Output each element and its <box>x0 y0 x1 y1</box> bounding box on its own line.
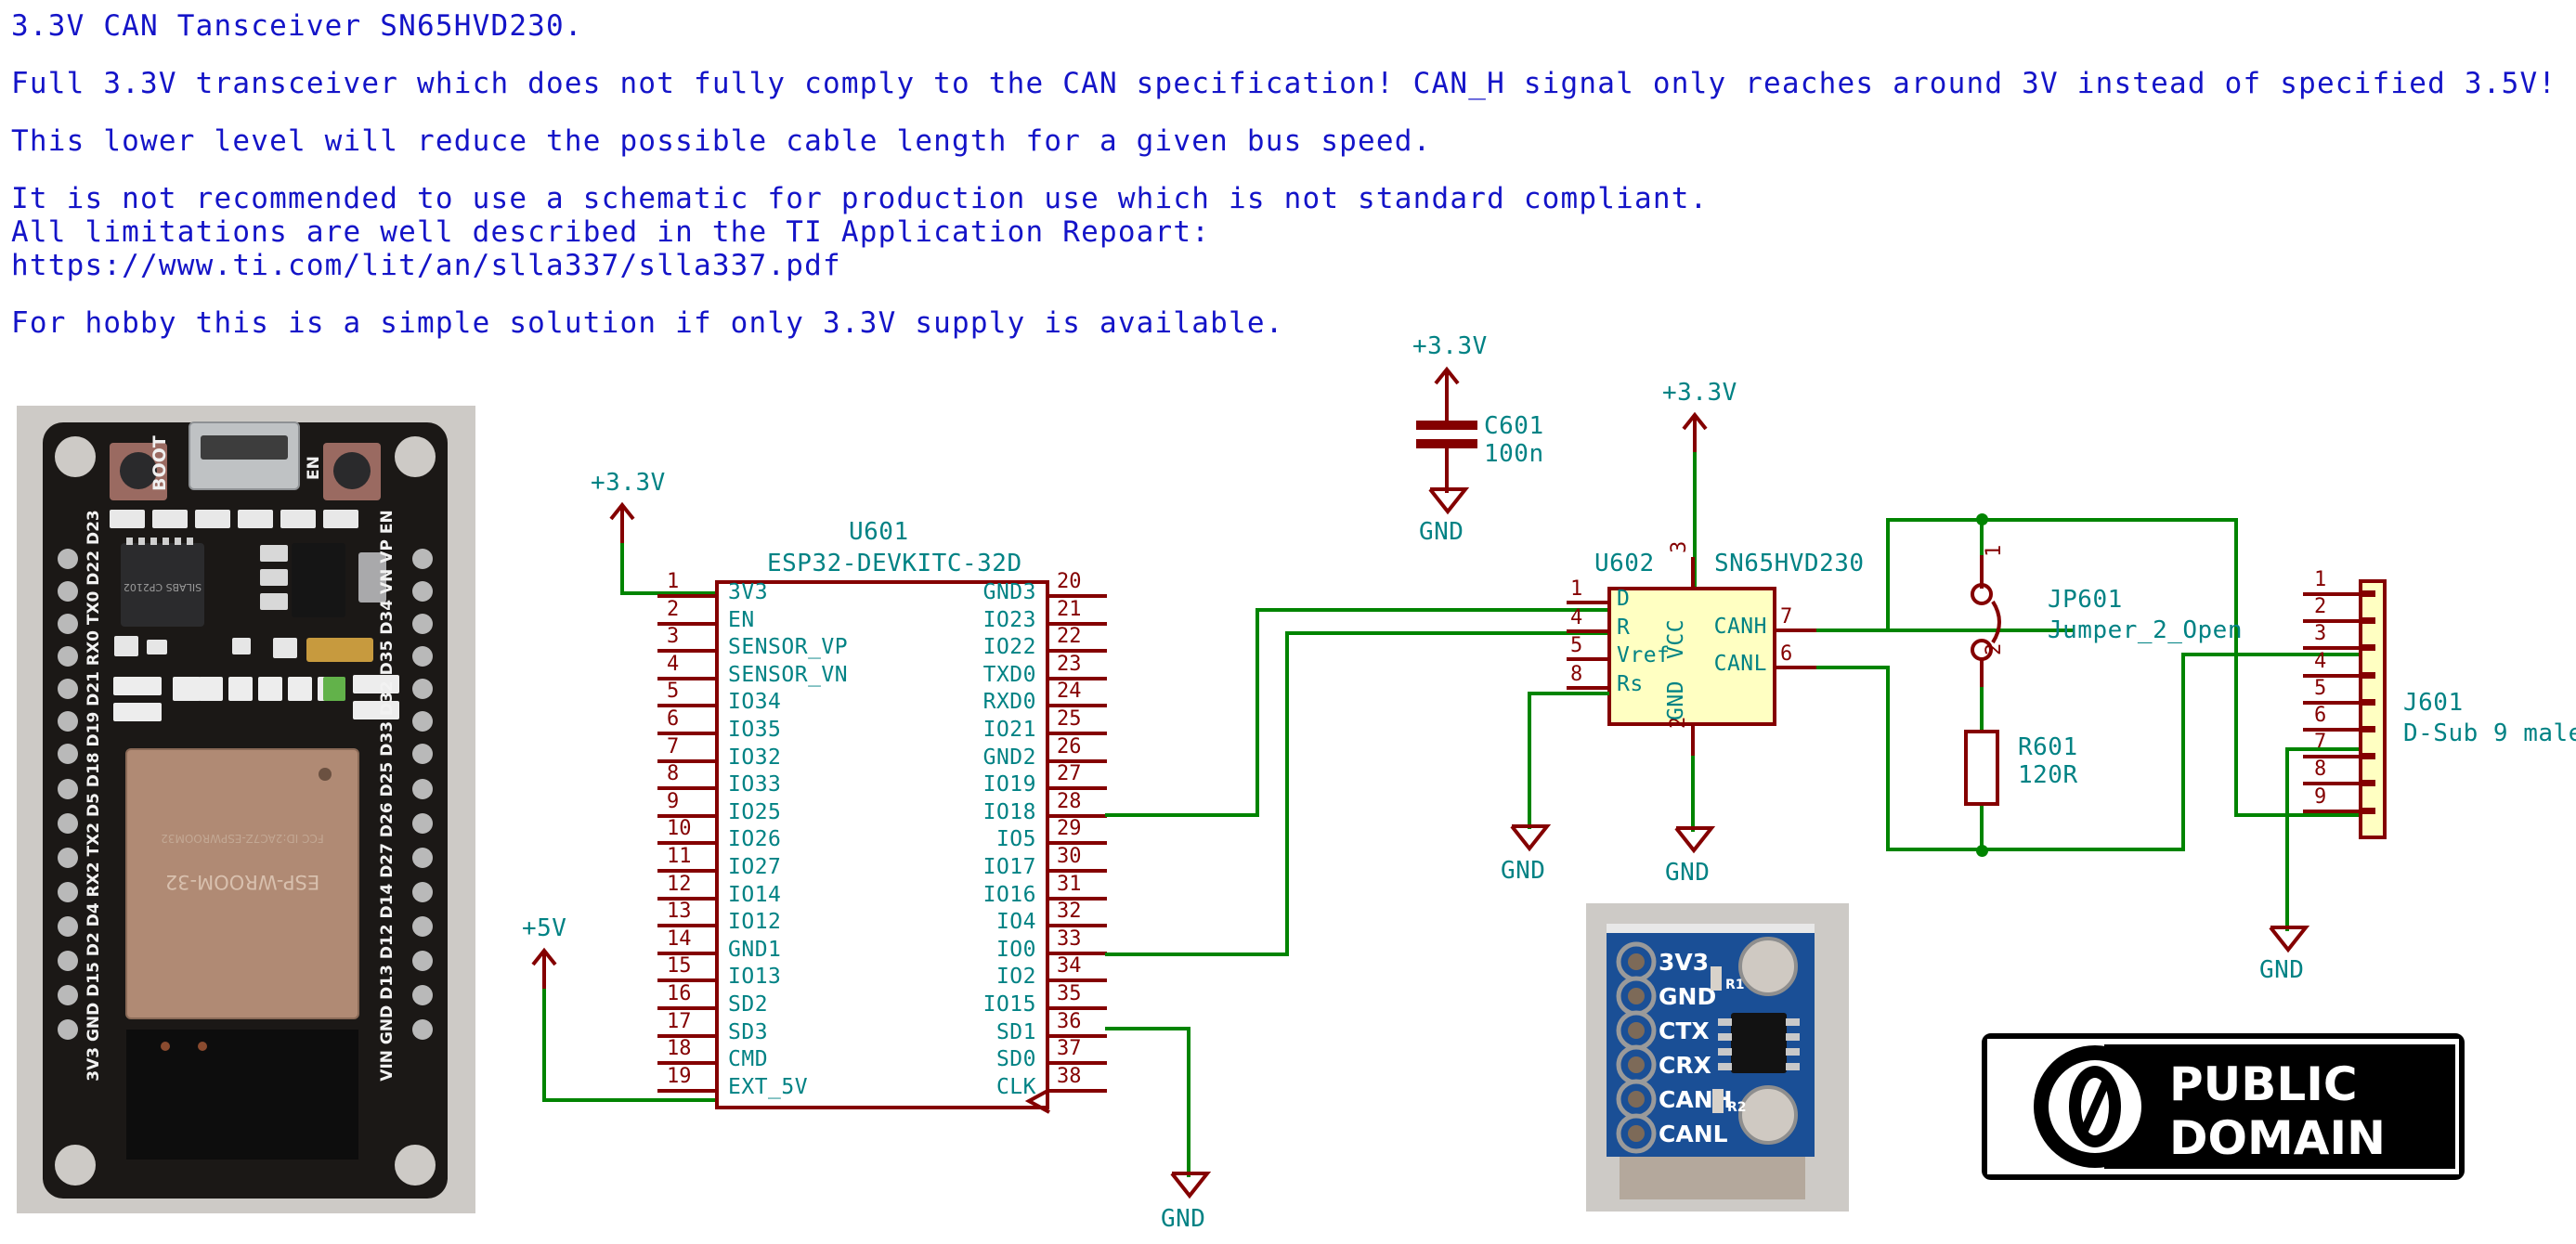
j601-pin-number: 9 <box>2314 785 2326 809</box>
u601-pin-name: IO17 <box>983 855 1036 879</box>
u601-pin-name: IO5 <box>996 827 1036 851</box>
u601-pin-number: 17 <box>667 1010 692 1033</box>
j601-pin-lead <box>2303 782 2359 785</box>
u601-pin-number: 12 <box>667 873 692 896</box>
j601-pin-lead <box>2303 646 2359 650</box>
u601-pin-name: IO19 <box>983 772 1036 797</box>
wire-dsub-gnd-v <box>2285 747 2289 931</box>
j601-value: D-Sub 9 male <box>2403 719 2576 747</box>
wire-canl-bottom-bus <box>1886 848 2185 851</box>
u601-pin-name: EXT_5V <box>728 1075 808 1099</box>
u601-pin-name: IO21 <box>983 718 1036 742</box>
note-line-cablelength: This lower level will reduce the possibl… <box>11 124 2333 158</box>
gnd-symbol-u602 <box>1674 826 1713 858</box>
u601-pin-number: 31 <box>1057 873 1082 896</box>
u601-pin-name: CMD <box>728 1047 768 1071</box>
u601-pin-number: 1 <box>667 570 679 593</box>
power-arrow-3v3-cap <box>1428 366 1465 408</box>
wire-io4-h1 <box>1105 952 1289 956</box>
wire-rs-to-gnd-h <box>1528 692 1609 695</box>
j601-pin-lead <box>2303 701 2359 705</box>
u601-pin-number: 24 <box>1057 680 1082 703</box>
u601-pin-number: 2 <box>667 598 679 621</box>
u601-pin-number: 33 <box>1057 927 1082 951</box>
wire-canh-top-bus <box>1886 518 2238 522</box>
wire-gnd2-h <box>1105 1027 1190 1030</box>
wire-gnd2-v <box>1187 1027 1190 1177</box>
gnd-symbol-esp32 <box>1170 1172 1209 1203</box>
u601-pin-name: IO15 <box>983 992 1036 1017</box>
wire-canl-to-dsub-v <box>2181 653 2185 851</box>
power-arrow-5v-esp32 <box>526 947 563 990</box>
j601-pin-stub <box>2361 672 2375 679</box>
u601-pin-number: 32 <box>1057 900 1082 923</box>
svg-text:SILABS CP2102: SILABS CP2102 <box>124 581 202 593</box>
power-label-3v3-cap: +3.3V <box>1412 332 1488 360</box>
u601-pin-lead <box>657 1089 715 1093</box>
u602-reference: U602 <box>1594 550 1655 577</box>
u601-pin-name: GND2 <box>983 745 1036 770</box>
u601-pin-name: SD1 <box>996 1020 1036 1044</box>
u601-pin-number: 15 <box>667 954 692 978</box>
svg-text:CANL: CANL <box>1659 1121 1728 1147</box>
gnd-label-c601: GND <box>1419 518 1464 546</box>
jp601-pin2-lead <box>1980 659 1984 687</box>
u602-pin-lead <box>1776 666 1817 669</box>
jp601-pin-num-2: 2 <box>1983 643 2006 655</box>
j601-pin-lead <box>2303 755 2359 758</box>
u602-pin-lead <box>1567 601 1607 604</box>
note-spacer <box>11 100 2333 124</box>
notes-block: 3.3V CAN Tansceiver SN65HVD230. Full 3.3… <box>11 9 2333 340</box>
j601-pin-stub <box>2361 726 2375 732</box>
u602-pin-lead <box>1567 686 1607 690</box>
gnd-label-u602: GND <box>1665 859 1710 887</box>
u602-pin-number: 4 <box>1570 606 1582 629</box>
u601-pin-name: IO27 <box>728 855 781 879</box>
sn65hvd230-module-photo: 3V3 GND CTX CRX CANH CANL R1 R2 <box>1586 903 1849 1212</box>
r601-body[interactable] <box>1964 730 1999 806</box>
public-domain-line1-text: PUBLIC <box>2169 1057 2358 1111</box>
j601-pin-stub <box>2361 753 2375 759</box>
svg-text:EN: EN <box>305 456 323 480</box>
j601-pin-number: 3 <box>2314 622 2326 645</box>
j601-pin-stub <box>2361 617 2375 624</box>
u602-pin-name: CANL <box>1714 652 1767 676</box>
u601-pin-number: 19 <box>667 1065 692 1088</box>
j601-pin-stub <box>2361 644 2375 651</box>
svg-text:GND: GND <box>1659 983 1716 1010</box>
u601-pin-number: 4 <box>667 653 679 676</box>
svg-text:R1: R1 <box>1725 978 1745 992</box>
u601-pin-number: 21 <box>1057 598 1082 621</box>
j601-pin-number: 1 <box>2314 568 2326 591</box>
u601-pin-name: EN <box>728 608 755 632</box>
note-line-hobby: For hobby this is a simple solution if o… <box>11 306 2333 340</box>
power-label-5v-esp32: +5V <box>522 914 566 942</box>
jp601-value: Jumper_2_Open <box>2048 616 2243 644</box>
wire-io4-v <box>1285 631 1289 956</box>
j601-pin-stub <box>2361 808 2375 814</box>
r601-value: 120R <box>2018 761 2078 789</box>
public-domain-line2-text: DOMAIN <box>2169 1111 2386 1165</box>
power-label-3v3-u602: +3.3V <box>1662 379 1737 407</box>
u601-pin-name: IO4 <box>996 910 1036 934</box>
note-spacer <box>11 158 2333 182</box>
u601-pin-number: 34 <box>1057 954 1082 978</box>
u601-pin-number: 38 <box>1057 1065 1082 1088</box>
public-domain-badge: PUBLIC DOMAIN <box>1982 1033 2465 1180</box>
wire-rs-to-gnd-v <box>1528 692 1531 829</box>
u602-pin-label-gnd: GND <box>1664 680 1688 720</box>
u601-pin-name: SD3 <box>728 1020 768 1044</box>
gnd-symbol-c601 <box>1428 487 1467 519</box>
u601-pin-number: 30 <box>1057 845 1082 868</box>
u601-pin-name: IO18 <box>983 800 1036 824</box>
u601-pin-name: IO35 <box>728 718 781 742</box>
u601-pin-number: 27 <box>1057 762 1082 785</box>
u601-pin-name: SD0 <box>996 1047 1036 1071</box>
j601-pin-number: 5 <box>2314 677 2326 700</box>
note-line-appnote: All limitations are well described in th… <box>11 215 2333 249</box>
u601-pin-number: 16 <box>667 982 692 1005</box>
note-spacer <box>11 43 2333 67</box>
svg-text:ESP-WROOM-32: ESP-WROOM-32 <box>165 871 319 893</box>
u601-pin-number: 22 <box>1057 625 1082 648</box>
j601-pin-number: 4 <box>2314 650 2326 673</box>
wire-canh-to-dsub-h <box>2234 813 2359 817</box>
note-spacer <box>11 282 2333 306</box>
u601-pin-name: IO25 <box>728 800 781 824</box>
u602-value: SN65HVD230 <box>1714 550 1865 577</box>
u601-pin-number: 10 <box>667 817 692 840</box>
note-line-title: 3.3V CAN Tansceiver SN65HVD230. <box>11 9 2333 43</box>
wire-io5-v <box>1255 608 1259 817</box>
gnd-symbol-dsub <box>2269 926 2308 957</box>
u601-pin-name: TXD0 <box>983 663 1036 687</box>
j601-pin-lead <box>2303 728 2359 732</box>
u602-pin-number: 5 <box>1570 634 1582 657</box>
u601-pin-number: 7 <box>667 735 679 758</box>
u601-pin-name: IO16 <box>983 883 1036 907</box>
power-arrow-3v3-esp32 <box>604 501 641 544</box>
u601-pin-number: 3 <box>667 625 679 648</box>
u601-pin-number: 8 <box>667 762 679 785</box>
u601-pin-name: IO14 <box>728 883 781 907</box>
j601-pin-lead <box>2303 674 2359 678</box>
u601-pin-name: IO13 <box>728 965 781 989</box>
j601-pin-stub <box>2361 699 2375 706</box>
u601-pin-number: 5 <box>667 680 679 703</box>
u601-pin-name: RXD0 <box>983 690 1036 714</box>
u601-pin-name: IO0 <box>996 938 1036 962</box>
jp601-symbol[interactable] <box>1959 583 2024 676</box>
u601-pin-number: 26 <box>1057 735 1082 758</box>
u601-pin-number: 18 <box>667 1037 692 1060</box>
svg-text:VIN GND D13 D12 D14 D27 D26 D2: VIN GND D13 D12 D14 D27 D26 D25 D33 D32 … <box>378 510 397 1081</box>
wire-canl-down <box>1886 666 1890 851</box>
wire-canl-to-dsub-h <box>2181 653 2359 656</box>
c601-reference: C601 <box>1484 412 1544 440</box>
u602-pin-name: D <box>1617 587 1630 611</box>
j601-pin-number: 2 <box>2314 595 2326 618</box>
u601-pin-number: 36 <box>1057 1010 1082 1033</box>
jp601-reference: JP601 <box>2048 586 2123 614</box>
u601-pin-name: IO26 <box>728 827 781 851</box>
u601-pin-name: SENSOR_VP <box>728 635 848 659</box>
u602-pin-lead <box>1567 629 1607 633</box>
u602-pin-number: 7 <box>1780 605 1792 628</box>
note-line-production: It is not recommended to use a schematic… <box>11 182 2333 215</box>
power-label-3v3-esp32: +3.3V <box>591 469 666 497</box>
svg-text:CTX: CTX <box>1659 1017 1710 1044</box>
svg-text:3V3 GND D15 D2 D4 RX2 TX2 D5 D: 3V3 GND D15 D2 D4 RX2 TX2 D5 D18 D19 D21… <box>85 510 103 1082</box>
svg-text:CRX: CRX <box>1659 1052 1711 1079</box>
wire-canl-from-u602 <box>1816 666 1890 669</box>
u601-pin-name: IO23 <box>983 608 1036 632</box>
u601-pin-number: 25 <box>1057 707 1082 731</box>
gnd-label-rs: GND <box>1501 857 1545 885</box>
junction-canl-node <box>1976 845 1988 857</box>
u601-pin-name: GND1 <box>728 938 781 962</box>
u601-pin-number: 14 <box>667 927 692 951</box>
u601-pin-name: IO33 <box>728 772 781 797</box>
gnd-label-esp32: GND <box>1161 1205 1205 1233</box>
note-line-url[interactable]: https://www.ti.com/lit/an/slla337/slla33… <box>11 249 2333 282</box>
u601-pin-number: 23 <box>1057 653 1082 676</box>
u601-pin-name: GND3 <box>983 580 1036 604</box>
gnd-label-dsub: GND <box>2259 956 2304 984</box>
u601-pin-number: 13 <box>667 900 692 923</box>
wire-5v-vertical <box>542 989 546 1102</box>
jp601-pin-num-1: 1 <box>1983 545 2006 557</box>
u601-pin-name: IO2 <box>996 965 1036 989</box>
u601-pin-number: 28 <box>1057 790 1082 813</box>
u601-pin-number: 11 <box>667 845 692 868</box>
u601-pin-number: 9 <box>667 790 679 813</box>
wire-canh-to-dsub-v <box>2234 518 2238 817</box>
j601-pin-lead <box>2303 810 2359 813</box>
u601-value: ESP32-DEVKITC-32D <box>767 550 1022 577</box>
svg-text:R2: R2 <box>1727 1100 1747 1115</box>
u601-pin-name: 3V3 <box>728 580 768 604</box>
r601-reference: R601 <box>2018 733 2078 761</box>
wire-3v3-to-u601-vertical <box>620 543 624 595</box>
u601-pin-name: IO22 <box>983 635 1036 659</box>
u601-pin-lead <box>1049 1089 1107 1093</box>
wire-io5-h2 <box>1255 608 1649 612</box>
esp32-devkit-photo: BOOT EN SILABS CP2102 <box>17 406 475 1213</box>
u602-pin-number: 8 <box>1570 663 1582 686</box>
j601-pin-number: 8 <box>2314 758 2326 781</box>
u601-pin-name: IO12 <box>728 910 781 934</box>
u601-pin-name: IO32 <box>728 745 781 770</box>
u602-pin-name: CANH <box>1714 615 1767 639</box>
u602-pin-num-3: 3 <box>1668 541 1691 553</box>
j601-pin-stub <box>2361 590 2375 597</box>
j601-pin-lead <box>2303 592 2359 596</box>
svg-text:3V3: 3V3 <box>1659 949 1709 976</box>
j601-pin-lead <box>2303 619 2359 623</box>
wire-5v-to-ext5v <box>542 1098 717 1102</box>
u601-pin-number: 35 <box>1057 982 1082 1005</box>
wire-io5-h1 <box>1105 813 1259 817</box>
c601-value: 100n <box>1484 440 1544 468</box>
u601-pin-name: SD2 <box>728 992 768 1017</box>
u602-pin-name: Vref <box>1617 643 1670 667</box>
u602-pin-name: Rs <box>1617 672 1644 696</box>
u601-clk-inverted-marker <box>1027 1088 1051 1114</box>
j601-reference: J601 <box>2403 689 2464 717</box>
c601-lead-bottom <box>1445 447 1449 493</box>
gnd-symbol-rs <box>1510 824 1549 856</box>
u602-pin-number: 6 <box>1780 642 1792 666</box>
c601-plate-top <box>1416 421 1477 430</box>
note-line-compliance: Full 3.3V transceiver which does not ful… <box>11 67 2333 100</box>
u602-pin2-lead <box>1691 724 1695 758</box>
u601-pin-number: 6 <box>667 707 679 731</box>
u601-pin-name: SENSOR_VN <box>728 663 848 687</box>
svg-text:FCC ID:2AC7Z-ESPWROOM32: FCC ID:2AC7Z-ESPWROOM32 <box>161 832 323 845</box>
junction-canh-node <box>1976 513 1988 525</box>
u601-pin-name: IO34 <box>728 690 781 714</box>
wire-canh-up <box>1886 518 1890 632</box>
u601-pin-number: 37 <box>1057 1037 1082 1060</box>
j601-pin-stub <box>2361 780 2375 786</box>
u601-pin-number: 29 <box>1057 817 1082 840</box>
u602-pin-lead <box>1776 628 1817 632</box>
wire-dsub-gnd-h <box>2285 747 2359 751</box>
wire-u602-gnd <box>1691 756 1695 832</box>
u601-reference: U601 <box>849 518 909 546</box>
j601-pin-number: 6 <box>2314 704 2326 727</box>
u601-pin-number: 20 <box>1057 570 1082 593</box>
u602-pin3-lead <box>1691 557 1695 589</box>
u602-pin-lead <box>1567 657 1607 661</box>
u602-pin-name: R <box>1617 616 1630 640</box>
svg-text:BOOT: BOOT <box>150 435 170 491</box>
wire-canh-from-u602 <box>1816 628 2074 632</box>
u602-pin-number: 1 <box>1570 577 1582 601</box>
power-arrow-3v3-u602 <box>1676 411 1713 454</box>
